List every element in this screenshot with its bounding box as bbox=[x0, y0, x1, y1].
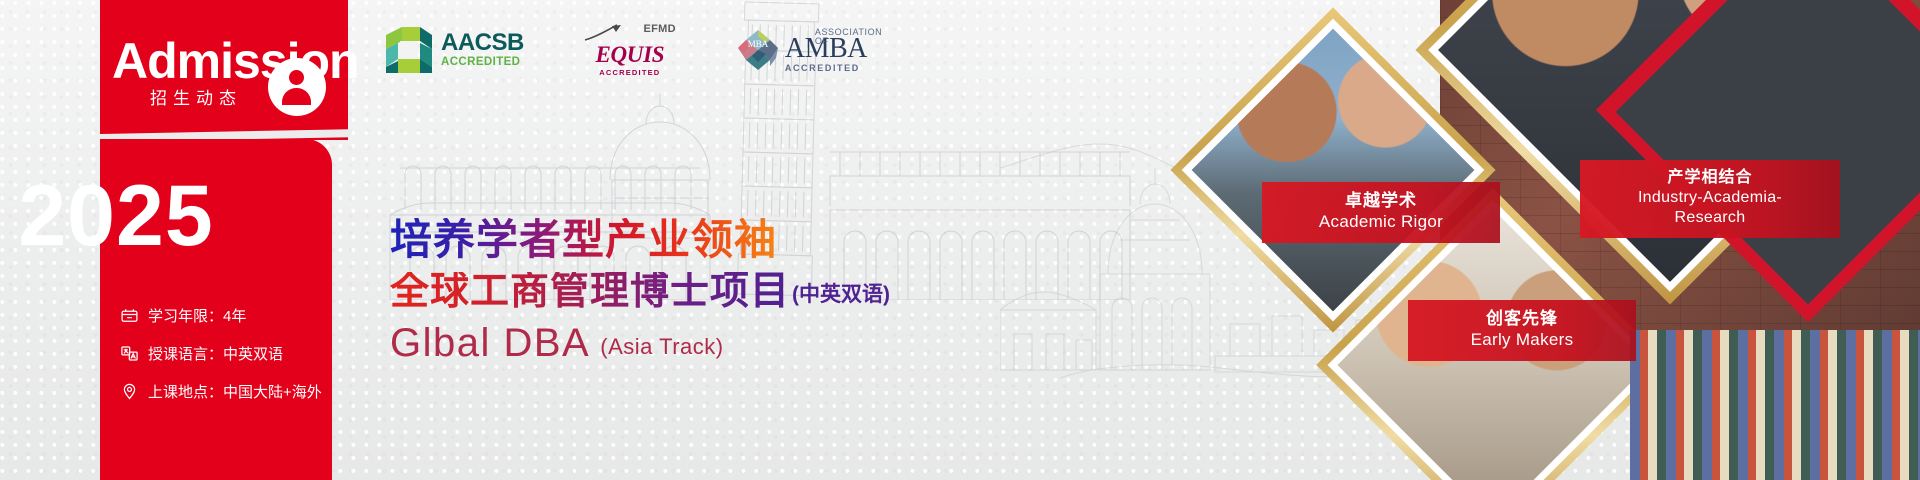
bookshelf-backdrop bbox=[1630, 330, 1920, 480]
program-title-en: Glbal DBA bbox=[390, 323, 590, 363]
svg-text:MBA: MBA bbox=[748, 39, 769, 49]
feature-label-industry: 产学相结合 Industry-Academia- Research bbox=[1580, 160, 1840, 238]
feature-label-academic: 卓越学术 Academic Rigor bbox=[1262, 182, 1500, 243]
accreditation-aacsb: AACSB ACCREDITED bbox=[386, 27, 524, 73]
aacsb-name: AACSB bbox=[441, 31, 524, 55]
amba-association-label: ASSOCIATION OF bbox=[815, 28, 882, 46]
info-text-location: 上课地点：中国大陆+海外 bbox=[148, 381, 322, 402]
info-text-duration: 学习年限：4年 bbox=[148, 305, 246, 326]
headline-tagline: 培养学者型产业领袖 bbox=[390, 218, 890, 262]
accreditation-equis: EFMD EQUIS ACCREDITED bbox=[582, 23, 678, 77]
info-row-duration: 学习年限：4年 bbox=[120, 296, 350, 334]
equis-swoosh-icon bbox=[582, 24, 634, 42]
feature-label-en2-industry: Research bbox=[1596, 208, 1824, 228]
program-year: 2025 bbox=[0, 173, 232, 259]
admission-banner: Admission 招生动态 2025 学习年限：4年 授课语言：中英双语 bbox=[0, 0, 1920, 480]
admission-logo: Admission 招生动态 bbox=[100, 28, 348, 120]
feature-collage: 产学相结合 Industry-Academia- Research 卓越学术 A… bbox=[1160, 0, 1920, 480]
accreditation-logos: AACSB ACCREDITED EFMD EQUIS ACCREDITED bbox=[386, 24, 867, 76]
headline-block: 培养学者型产业领袖 全球工商管理博士项目 (中英双语) Glbal DBA (A… bbox=[390, 218, 890, 363]
feature-label-cn-industry: 产学相结合 bbox=[1596, 168, 1824, 188]
amba-subtitle: ACCREDITED bbox=[785, 64, 867, 73]
accreditation-amba: MBA ASSOCIATION OF AMBA ACCREDITED bbox=[736, 28, 867, 73]
calendar-icon bbox=[120, 306, 139, 325]
aacsb-logo-icon bbox=[386, 27, 432, 73]
feature-label-cn-makers: 创客先锋 bbox=[1424, 308, 1620, 329]
program-title-cn-paren: (中英双语) bbox=[792, 278, 890, 311]
feature-label-en1-industry: Industry-Academia- bbox=[1596, 188, 1824, 208]
feature-label-en-academic: Academic Rigor bbox=[1278, 211, 1484, 232]
info-text-language: 授课语言：中英双语 bbox=[148, 343, 283, 364]
equis-name: EQUIS bbox=[582, 43, 678, 66]
feature-label-cn-academic: 卓越学术 bbox=[1278, 190, 1484, 211]
efmd-label: EFMD bbox=[643, 24, 675, 35]
info-row-location: 上课地点：中国大陆+海外 bbox=[120, 372, 350, 410]
feature-label-makers: 创客先锋 Early Makers bbox=[1408, 300, 1636, 361]
equis-subtitle: ACCREDITED bbox=[582, 69, 678, 77]
location-pin-icon bbox=[120, 382, 139, 401]
feature-label-en-makers: Early Makers bbox=[1424, 329, 1620, 350]
aacsb-subtitle: ACCREDITED bbox=[441, 57, 524, 69]
program-title-en-paren: (Asia Track) bbox=[600, 334, 723, 363]
program-title-cn: 全球工商管理博士项目 bbox=[390, 272, 790, 311]
program-info-list: 学习年限：4年 授课语言：中英双语 上课地点：中国大陆+海外 bbox=[120, 296, 350, 410]
person-head-icon bbox=[289, 70, 304, 85]
person-circle-icon bbox=[268, 58, 326, 116]
amba-logo-icon: MBA bbox=[736, 28, 780, 72]
info-row-language: 授课语言：中英双语 bbox=[120, 334, 350, 372]
logo-chinese-label: 招生动态 bbox=[150, 84, 242, 109]
language-icon bbox=[120, 344, 139, 363]
